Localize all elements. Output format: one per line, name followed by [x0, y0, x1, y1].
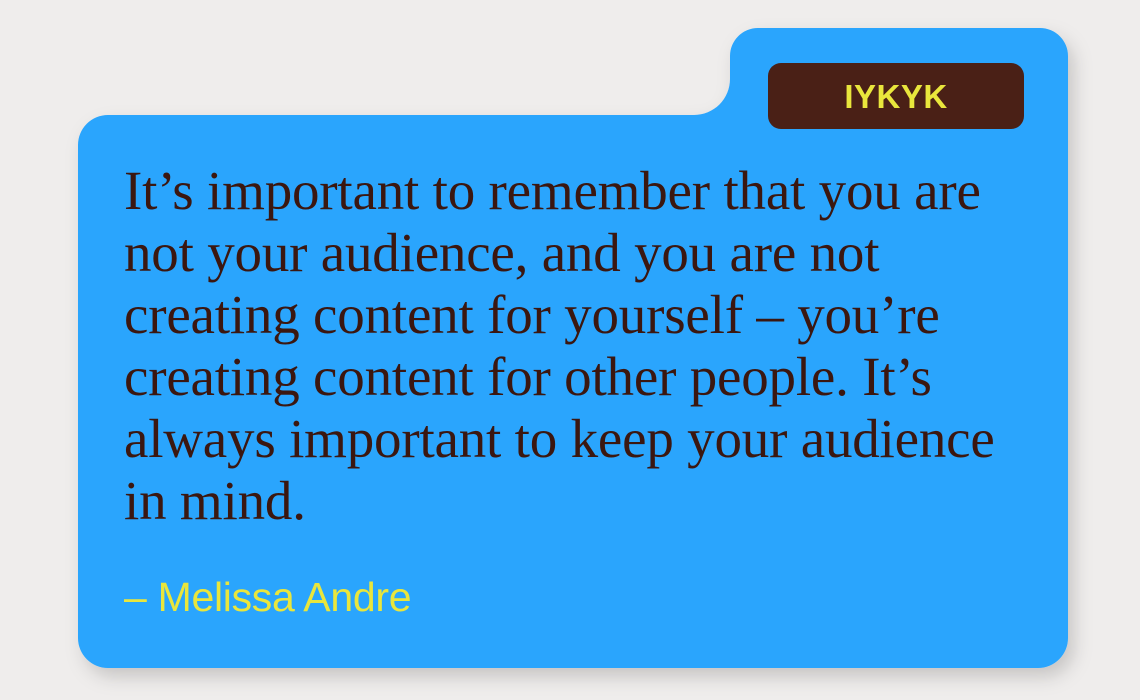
- quote-card-canvas: IYKYK It’s important to remember that yo…: [0, 0, 1140, 700]
- badge-label: IYKYK: [844, 80, 947, 113]
- iykyk-badge[interactable]: IYKYK: [768, 63, 1024, 129]
- quote-attribution: – Melissa Andre: [124, 575, 411, 620]
- quote-block: It’s important to remember that you are …: [124, 160, 1014, 532]
- quote-text: It’s important to remember that you are …: [124, 160, 1014, 532]
